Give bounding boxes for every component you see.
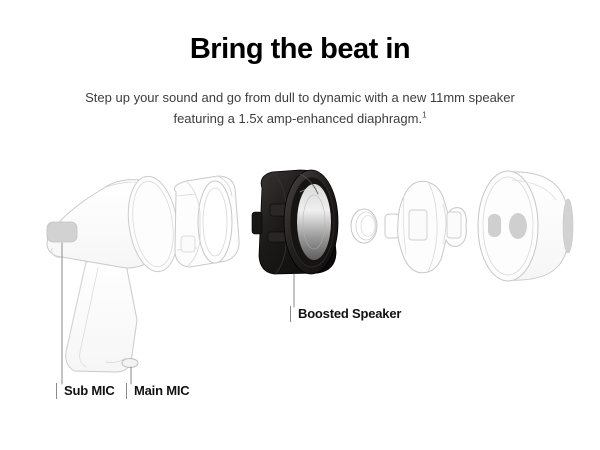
- speaker-diaphragm: [297, 184, 331, 260]
- shell-side-strip: [563, 199, 573, 253]
- callout-label-boosted-speaker: Boosted Speaker: [290, 306, 401, 322]
- callout-label-main-mic: Main MIC: [126, 383, 189, 399]
- sub-mic-pad: [47, 222, 77, 242]
- component-ear-tip-shell: [478, 171, 573, 281]
- component-boosted-speaker-driver: [252, 170, 338, 274]
- component-wing-bracket: [398, 181, 467, 272]
- promo-page: Bring the beat in Step up your sound and…: [0, 0, 600, 450]
- component-outer-shell-stem: [47, 173, 183, 372]
- shell-port-right: [509, 213, 527, 239]
- component-acoustic-mesh-ring: [351, 209, 377, 243]
- callout-label-sub-mic: Sub MIC: [56, 383, 115, 399]
- shell-port-left: [488, 214, 501, 237]
- component-inner-ring-housing: [174, 176, 239, 267]
- main-mic-port: [122, 359, 138, 368]
